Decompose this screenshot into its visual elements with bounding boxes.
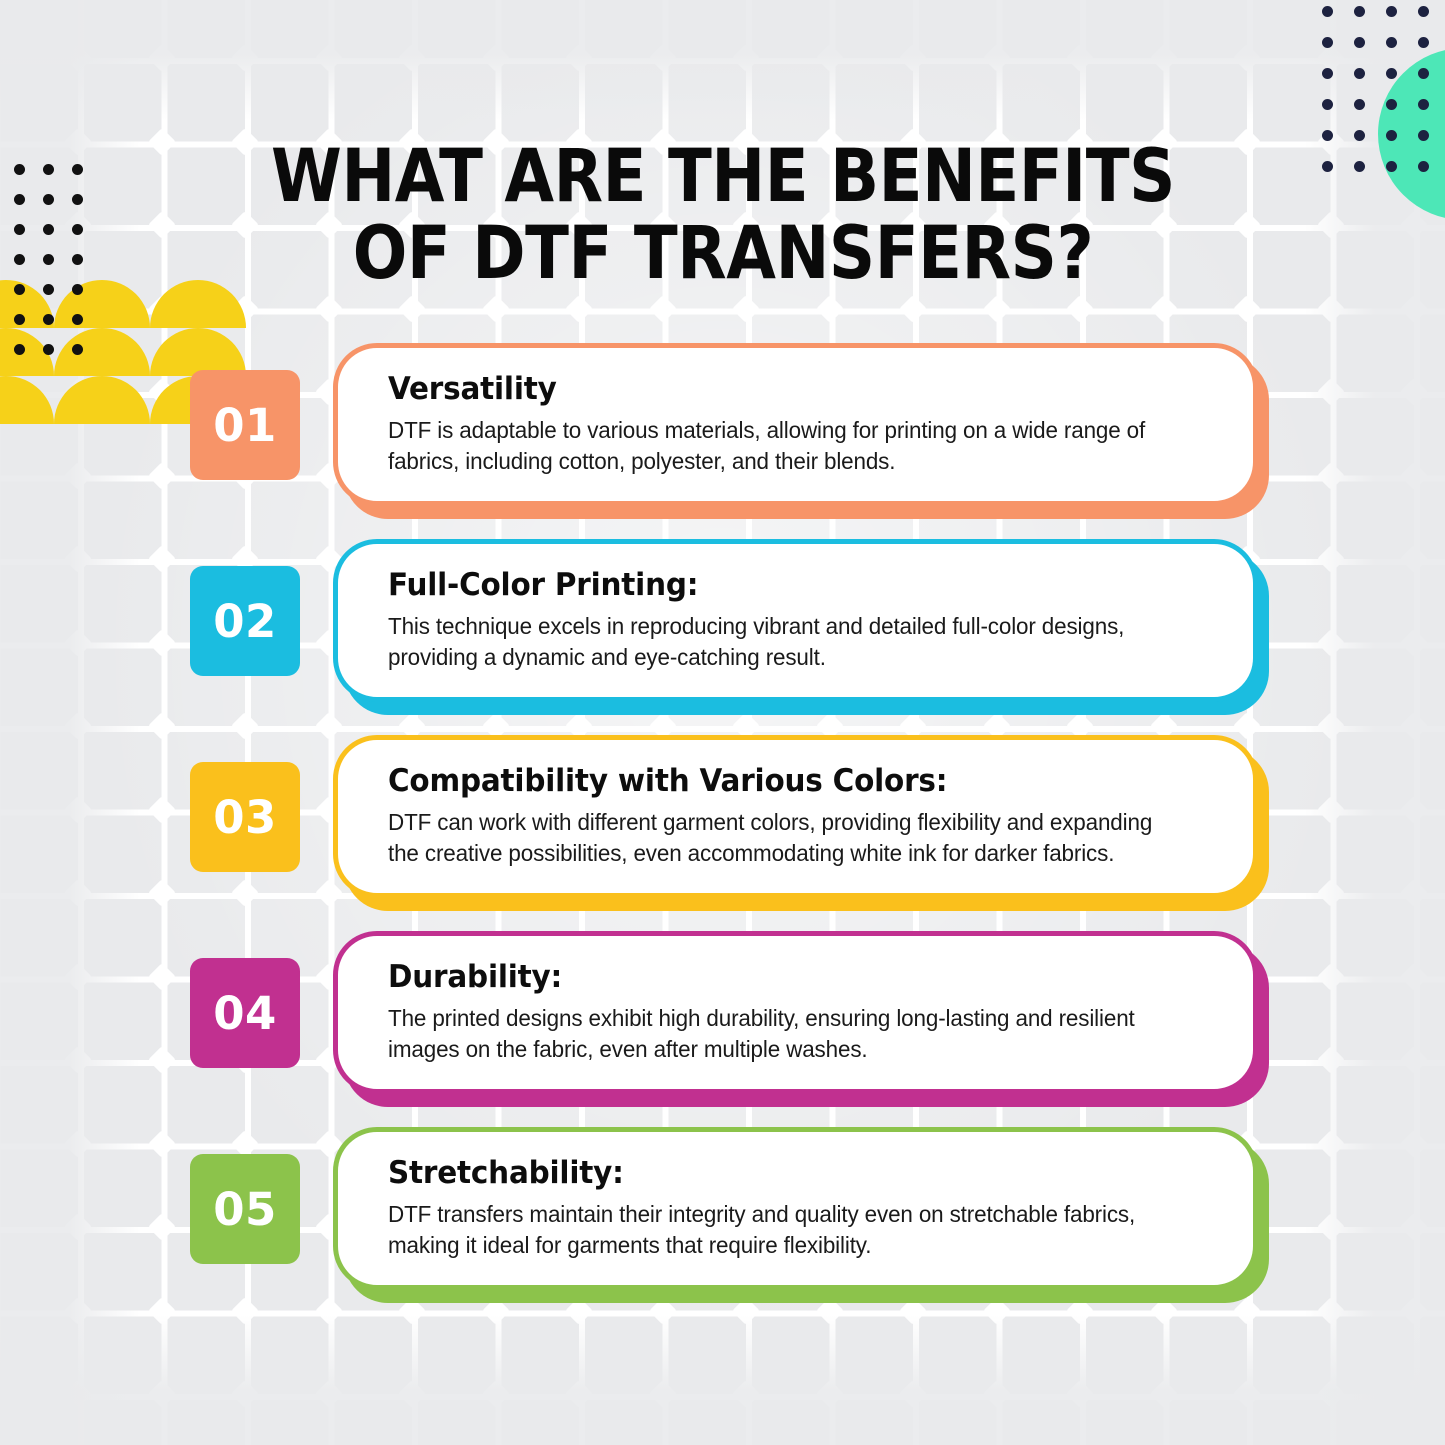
benefit-body: DTF is adaptable to various materials, a… [388, 415, 1176, 477]
benefit-heading: Versatility [388, 372, 1172, 406]
decorative-dot [1322, 130, 1333, 141]
decorative-dot [1386, 99, 1397, 110]
decorative-dot [1322, 99, 1333, 110]
decorative-dot [43, 254, 54, 265]
benefit-number-badge: 02 [190, 566, 300, 676]
decorative-dot [1354, 130, 1365, 141]
benefit-number: 04 [213, 987, 277, 1040]
decorative-dot [72, 284, 83, 295]
benefit-card-wrapper: VersatilityDTF is adaptable to various m… [333, 343, 1258, 513]
benefit-row[interactable]: 01VersatilityDTF is adaptable to various… [0, 343, 1445, 539]
benefit-row[interactable]: 02Full-Color Printing:This technique exc… [0, 539, 1445, 735]
benefit-card[interactable]: Compatibility with Various Colors:DTF ca… [333, 735, 1258, 898]
benefit-body: DTF transfers maintain their integrity a… [388, 1199, 1176, 1261]
benefit-number-badge: 04 [190, 958, 300, 1068]
benefit-card[interactable]: Full-Color Printing:This technique excel… [333, 539, 1258, 702]
decorative-dot [14, 254, 25, 265]
benefit-heading: Stretchability: [388, 1156, 1172, 1190]
decorative-dot [1354, 161, 1365, 172]
decorative-dot [1418, 161, 1429, 172]
decorative-dot [14, 194, 25, 205]
benefit-heading: Compatibility with Various Colors: [388, 764, 1172, 798]
decorative-dot [1322, 161, 1333, 172]
decorative-dot [72, 164, 83, 175]
decorative-dot [1354, 68, 1365, 79]
decorative-dot [1418, 37, 1429, 48]
decorative-dot [43, 194, 54, 205]
benefit-card-wrapper: Full-Color Printing:This technique excel… [333, 539, 1258, 709]
benefit-number-badge: 01 [190, 370, 300, 480]
decorative-dot [1322, 37, 1333, 48]
benefit-list: 01VersatilityDTF is adaptable to various… [0, 343, 1445, 1323]
decorative-dot [43, 284, 54, 295]
decorative-dot [1386, 37, 1397, 48]
decorative-dot [1386, 161, 1397, 172]
benefit-number: 05 [213, 1183, 277, 1236]
benefit-heading: Durability: [388, 960, 1172, 994]
decorative-dot [1418, 68, 1429, 79]
decorative-dot [1354, 6, 1365, 17]
decorative-dot [1322, 68, 1333, 79]
dot-grid-left [14, 164, 124, 354]
page-title: WHAT ARE THE BENEFITS OF DTF TRANSFERS? [243, 138, 1202, 292]
benefit-card[interactable]: Stretchability:DTF transfers maintain th… [333, 1127, 1258, 1290]
decorative-dot [1386, 130, 1397, 141]
benefit-row[interactable]: 05Stretchability:DTF transfers maintain … [0, 1127, 1445, 1323]
benefit-card[interactable]: Durability:The printed designs exhibit h… [333, 931, 1258, 1094]
benefit-number: 02 [213, 595, 277, 648]
decorative-dot [14, 224, 25, 235]
decorative-dot [1418, 99, 1429, 110]
decorative-dot [14, 164, 25, 175]
decorative-dot [43, 314, 54, 325]
decorative-dot [1354, 37, 1365, 48]
decorative-dot [1354, 99, 1365, 110]
benefit-number-badge: 03 [190, 762, 300, 872]
benefit-number-badge: 05 [190, 1154, 300, 1264]
dot-grid-top-right [1322, 0, 1445, 172]
decorative-dot [14, 314, 25, 325]
benefit-card-wrapper: Compatibility with Various Colors:DTF ca… [333, 735, 1258, 905]
benefit-card-wrapper: Stretchability:DTF transfers maintain th… [333, 1127, 1258, 1297]
benefit-row[interactable]: 04Durability:The printed designs exhibit… [0, 931, 1445, 1127]
decorative-dot [1322, 6, 1333, 17]
infographic-canvas: WHAT ARE THE BENEFITS OF DTF TRANSFERS? … [0, 0, 1445, 1445]
decorative-dot [72, 254, 83, 265]
decorative-dot [72, 314, 83, 325]
decorative-dot [72, 194, 83, 205]
benefit-card[interactable]: VersatilityDTF is adaptable to various m… [333, 343, 1258, 506]
benefit-number: 03 [213, 791, 277, 844]
decorative-dot [1386, 6, 1397, 17]
benefit-number: 01 [213, 399, 277, 452]
benefit-row[interactable]: 03Compatibility with Various Colors:DTF … [0, 735, 1445, 931]
decorative-dot [1418, 6, 1429, 17]
benefit-body: DTF can work with different garment colo… [388, 807, 1176, 869]
decorative-dot [1386, 68, 1397, 79]
decorative-dot [43, 224, 54, 235]
benefit-body: This technique excels in reproducing vib… [388, 611, 1176, 673]
benefit-card-wrapper: Durability:The printed designs exhibit h… [333, 931, 1258, 1101]
benefit-heading: Full-Color Printing: [388, 568, 1172, 602]
decorative-dot [43, 164, 54, 175]
benefit-body: The printed designs exhibit high durabil… [388, 1003, 1176, 1065]
decorative-dot [14, 284, 25, 295]
decorative-dot [72, 224, 83, 235]
decorative-dot [1418, 130, 1429, 141]
